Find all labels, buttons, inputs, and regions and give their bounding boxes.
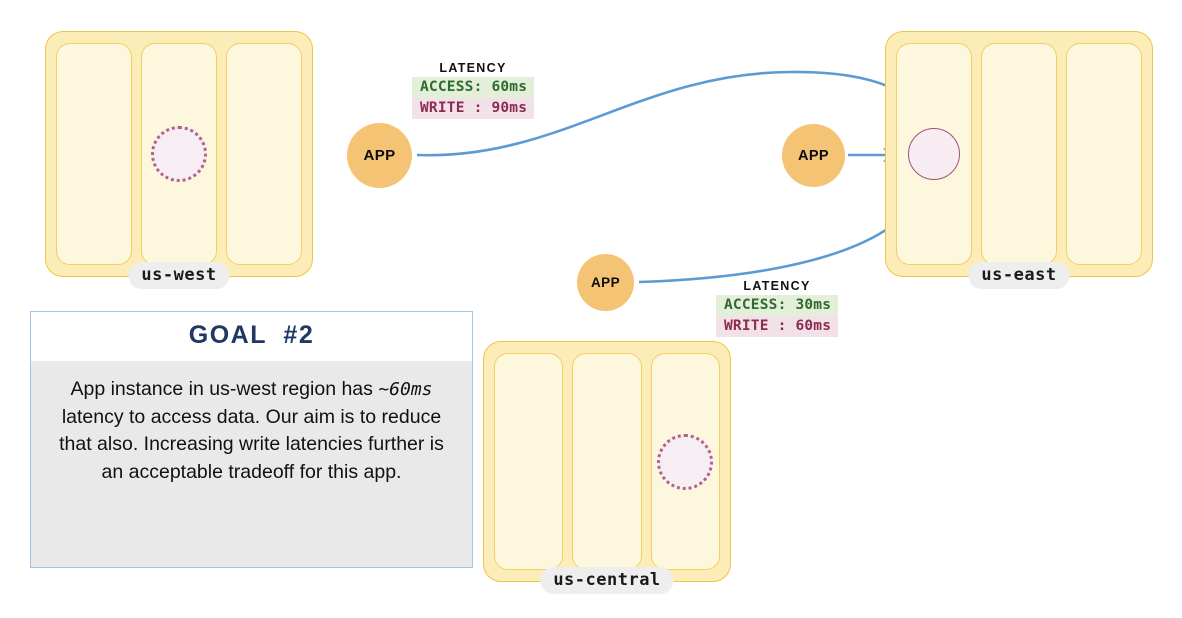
region-us-central-zone-b[interactable] — [572, 353, 641, 570]
latency-card-us-west-write-row: WRITE : 90ms — [412, 98, 534, 119]
region-us-central-zone-c[interactable] — [651, 353, 720, 570]
goal-title: GOAL #2 — [189, 321, 314, 349]
region-us-west[interactable]: us-west — [45, 31, 313, 277]
latency-card-us-west: LATENCY ACCESS: 60ms WRITE : 90ms — [412, 61, 534, 119]
region-us-west-zone-b[interactable] — [141, 43, 217, 265]
region-us-east-zone-a[interactable] — [896, 43, 972, 265]
region-us-central[interactable]: us-central — [483, 341, 731, 582]
region-us-central-zone-a[interactable] — [494, 353, 563, 570]
app-node-us-west-label: APP — [363, 147, 395, 164]
latency-card-us-central-title: LATENCY — [716, 279, 838, 293]
data-replica-ghost-us-west[interactable] — [151, 126, 207, 182]
app-node-us-east-label: APP — [798, 148, 829, 164]
region-us-west-zone-a[interactable] — [56, 43, 132, 265]
goal-body-text-lead: App instance in us-west region has — [70, 378, 378, 400]
diagram-canvas: us-west us-east us-central APP APP APP L… — [0, 0, 1182, 618]
data-replica-ghost-us-central[interactable] — [657, 434, 713, 490]
latency-card-us-west-title: LATENCY — [412, 61, 534, 75]
region-us-west-zone-c[interactable] — [226, 43, 302, 265]
region-us-east-zone-c[interactable] — [1066, 43, 1142, 265]
region-us-east-label: us-east — [968, 262, 1069, 289]
region-us-east-zone-b[interactable] — [981, 43, 1057, 265]
app-node-us-west[interactable]: APP — [347, 123, 412, 188]
app-node-us-central[interactable]: APP — [577, 254, 634, 311]
goal-panel-body: App instance in us-west region has ~60ms… — [31, 361, 472, 503]
goal-body-latency-emphasis: ~60ms — [378, 379, 432, 400]
latency-card-us-central-write-row: WRITE : 60ms — [716, 316, 838, 337]
region-us-west-label: us-west — [128, 262, 229, 289]
app-node-us-east[interactable]: APP — [782, 124, 845, 187]
latency-card-us-west-access-row: ACCESS: 60ms — [412, 77, 534, 98]
goal-panel: GOAL #2 App instance in us-west region h… — [30, 311, 473, 568]
latency-card-us-central: LATENCY ACCESS: 30ms WRITE : 60ms — [716, 279, 838, 337]
goal-body-text-tail: latency to access data. Our aim is to re… — [59, 406, 444, 483]
data-replica-primary-us-east[interactable] — [908, 128, 960, 180]
app-node-us-central-label: APP — [591, 275, 620, 290]
latency-card-us-central-access-row: ACCESS: 30ms — [716, 295, 838, 316]
goal-panel-header: GOAL #2 — [31, 312, 472, 361]
region-us-east[interactable]: us-east — [885, 31, 1153, 277]
region-us-central-label: us-central — [540, 567, 673, 594]
